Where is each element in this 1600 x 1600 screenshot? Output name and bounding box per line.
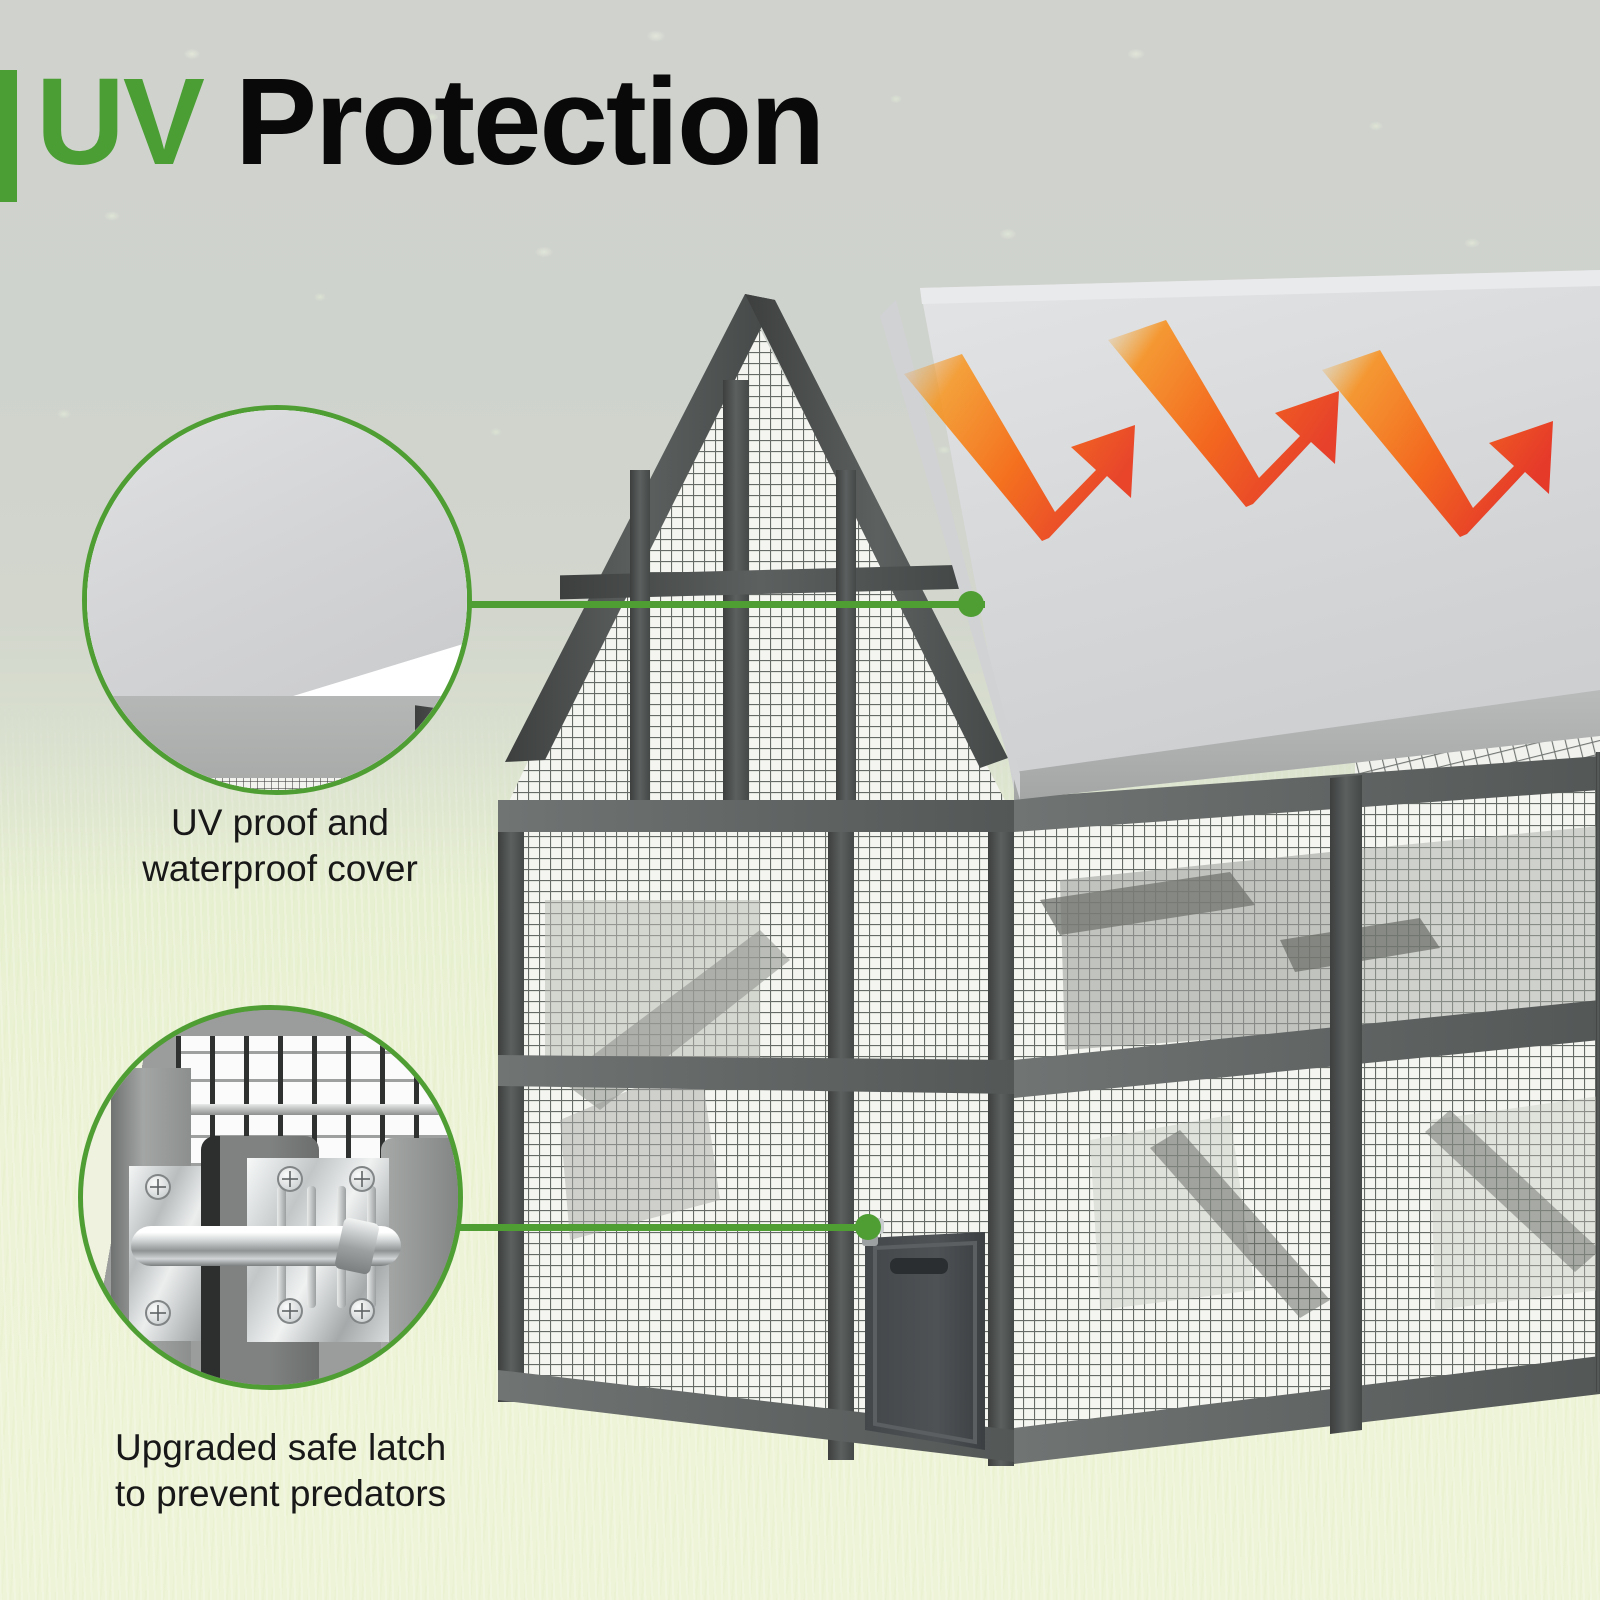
roof-corner-closeup-icon bbox=[85, 408, 469, 792]
uv-ray-arrow-2 bbox=[1108, 320, 1339, 507]
connector-line-safe-latch bbox=[455, 1224, 880, 1231]
callout-caption-safe-latch: Upgraded safe latch to prevent predators bbox=[115, 1425, 585, 1517]
callout-caption-uv-cover: UV proof and waterproof cover bbox=[60, 800, 500, 892]
title-accent-bar bbox=[0, 70, 17, 202]
callout-circle-safe-latch bbox=[78, 1005, 463, 1390]
connector-dot-uv-cover bbox=[958, 591, 984, 617]
callout-circle-uv-cover bbox=[82, 405, 472, 795]
page-title-rest: Protection bbox=[203, 54, 823, 191]
connector-line-uv-cover bbox=[455, 601, 985, 608]
page-title: UV Protection bbox=[36, 58, 823, 187]
barrel-bolt-latch-closeup-icon bbox=[81, 1008, 460, 1387]
page-title-highlight: UV bbox=[36, 54, 203, 191]
uv-ray-arrow-3 bbox=[1322, 350, 1553, 537]
screenshot-stage: UV Protection UV proof and waterproof co… bbox=[0, 0, 1600, 1600]
uv-ray-arrow-1 bbox=[904, 354, 1135, 541]
connector-dot-safe-latch bbox=[855, 1214, 881, 1240]
